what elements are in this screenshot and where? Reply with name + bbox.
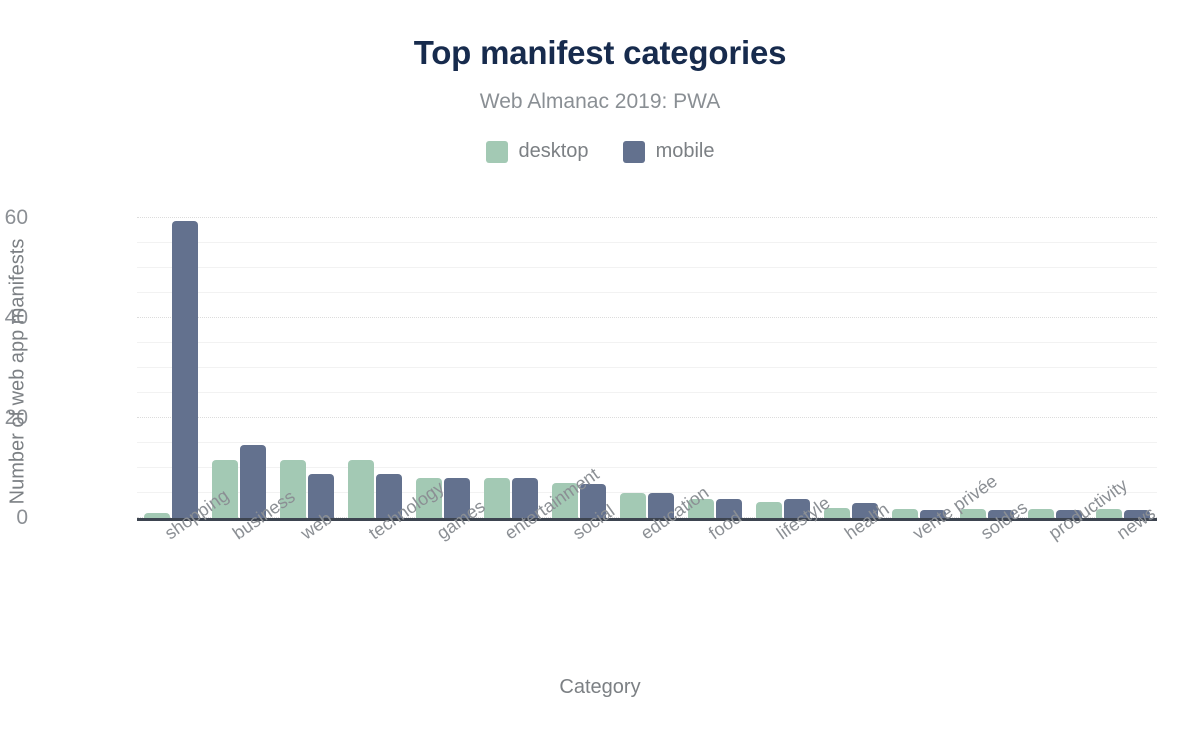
bar-group: [1021, 203, 1089, 518]
bar-group: [613, 203, 681, 518]
legend-item-mobile[interactable]: mobile: [623, 140, 715, 163]
bar-group: [409, 203, 477, 518]
chart-legend: desktop mobile: [0, 140, 1200, 163]
x-axis-title: Category: [0, 676, 1200, 699]
bar-desktop[interactable]: [756, 502, 782, 518]
legend-swatch-desktop-icon: [486, 141, 508, 163]
bar-group: [885, 203, 953, 518]
bar-group: [273, 203, 341, 518]
bar-group: [137, 203, 205, 518]
bar-group: [341, 203, 409, 518]
legend-swatch-mobile-icon: [623, 141, 645, 163]
bar-chart-figure: Top manifest categories Web Almanac 2019…: [0, 0, 1200, 742]
legend-label-desktop: desktop: [519, 140, 589, 163]
legend-item-desktop[interactable]: desktop: [486, 140, 589, 163]
bar-group: [1089, 203, 1157, 518]
bar-group: [817, 203, 885, 518]
bar-desktop[interactable]: [348, 460, 374, 518]
chart-title: Top manifest categories: [0, 34, 1200, 72]
bar-group: [681, 203, 749, 518]
bar-group: [477, 203, 545, 518]
bar-group: [749, 203, 817, 518]
bar-desktop[interactable]: [892, 509, 918, 518]
plot-bars: [137, 203, 1157, 518]
chart-subtitle: Web Almanac 2019: PWA: [0, 90, 1200, 114]
bar-desktop[interactable]: [1028, 509, 1054, 518]
bar-mobile[interactable]: [172, 221, 198, 519]
bar-group: [205, 203, 273, 518]
bar-desktop[interactable]: [620, 493, 646, 518]
y-axis-title: Number of web app manifests: [7, 92, 30, 652]
legend-label-mobile: mobile: [656, 140, 715, 163]
